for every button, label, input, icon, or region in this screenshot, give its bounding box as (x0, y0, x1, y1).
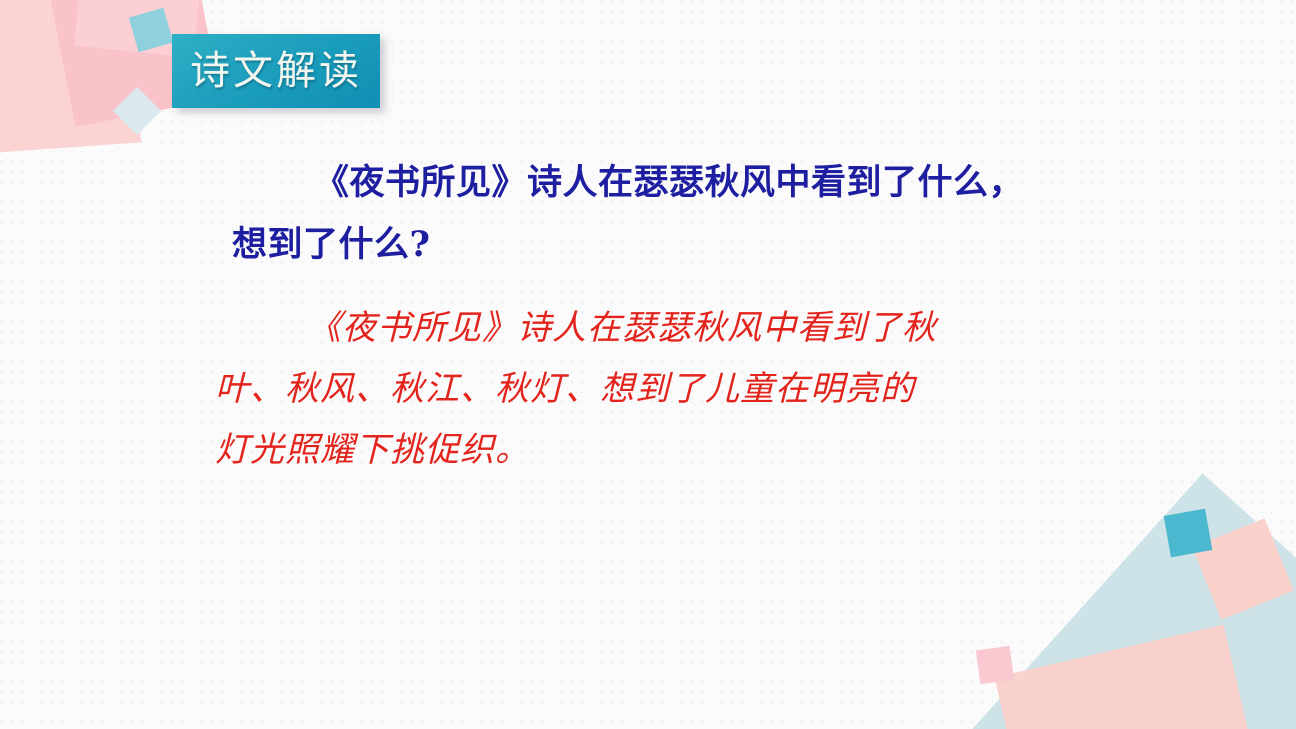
slide-canvas: 诗文解读 《夜书所见》诗人在瑟瑟秋风中看到了什么， 想到了什么? 《夜书所见》诗… (0, 0, 1296, 729)
section-title-label: 诗文解读 (190, 51, 362, 91)
section-title-badge: 诗文解读 (172, 34, 380, 108)
answer-line-2: 叶、秋风、秋江、秋灯、想到了儿童在明亮的 (215, 359, 1055, 420)
answer-line-1: 《夜书所见》诗人在瑟瑟秋风中看到了秋 (215, 298, 1055, 359)
answer-text-block: 《夜书所见》诗人在瑟瑟秋风中看到了秋 叶、秋风、秋江、秋灯、想到了儿童在明亮的 … (215, 298, 1055, 481)
decor-pink-square-small-bottomright (976, 646, 1014, 684)
answer-line-3: 灯光照耀下挑促织。 (215, 420, 1055, 481)
question-line-1: 《夜书所见》诗人在瑟瑟秋风中看到了什么， (228, 152, 1068, 214)
decor-teal-square-bottomright (1164, 509, 1213, 558)
question-text-block: 《夜书所见》诗人在瑟瑟秋风中看到了什么， 想到了什么? (228, 152, 1068, 276)
question-line-2: 想到了什么? (228, 214, 1068, 276)
